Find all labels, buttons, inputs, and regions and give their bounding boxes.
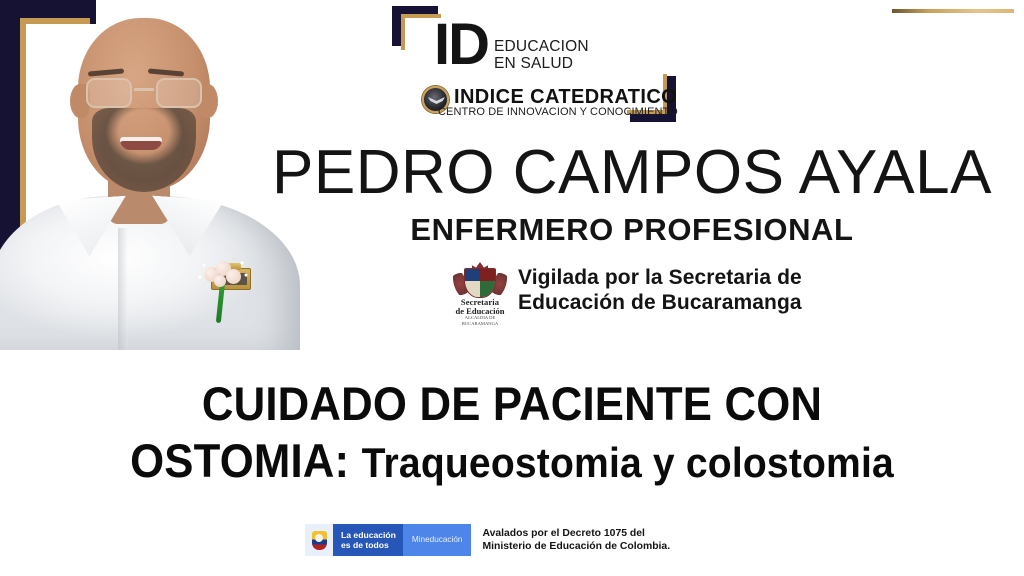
flower-stem xyxy=(216,281,225,323)
logo-mark-id: ID xyxy=(434,20,488,70)
lens-right xyxy=(156,78,202,108)
accreditation-block: Secretaria de Educación ALCALDIA DE BUCA… xyxy=(452,262,802,318)
gov-ministry-label: Mineducación xyxy=(403,524,472,556)
footer-accreditation: La educación es de todos Mineducación Av… xyxy=(305,524,670,556)
logo-subtitle-line2: EN SALUD xyxy=(494,55,573,72)
colombia-coat-of-arms-icon xyxy=(312,531,327,550)
title-line-2-bold: OSTOMIA: xyxy=(130,434,349,487)
title-line-2-rest: Traqueostomia y colostomia xyxy=(362,439,894,486)
flower-petal xyxy=(226,269,241,284)
mineducacion-logo: La educación es de todos Mineducación xyxy=(305,524,471,556)
indice-catedratico-logo: ID EDUCACION EN SALUD INDICE CATEDRATICO… xyxy=(392,6,676,122)
presentation-slide: ID EDUCACION EN SALUD INDICE CATEDRATICO… xyxy=(0,0,1024,576)
institute-tagline: CENTRO DE INNOVACION Y CONOCIMIENTO xyxy=(438,106,678,118)
top-right-gold-line xyxy=(892,9,1014,13)
lens-left xyxy=(86,78,132,108)
gov-slogan-line2: es de todos xyxy=(341,540,396,551)
crest-quarter xyxy=(480,269,495,281)
title-line-1: CUIDADO DE PACIENTE CON xyxy=(36,376,988,432)
shirt-placket xyxy=(118,228,128,350)
crest-label-line3: ALCALDIA DE BUCARAMANGA xyxy=(452,315,508,327)
footer-note-line2: Ministerio de Educación de Colombia. xyxy=(482,541,670,552)
eagle-glyph xyxy=(428,97,445,104)
mouth xyxy=(120,137,162,150)
crest-quarter xyxy=(465,281,480,297)
footer-note: Avalados por el Decreto 1075 del Ministe… xyxy=(482,527,670,554)
gov-slogan-line1: La educación xyxy=(341,530,396,541)
eyeglasses-icon xyxy=(84,78,204,108)
accreditation-line1: Vigilada por la Secretaria de xyxy=(518,266,802,289)
flower-petal xyxy=(214,275,226,287)
footer-note-line1: Avalados por el Decreto 1075 del xyxy=(482,528,644,539)
speaker-role: ENFERMERO PROFESIONAL xyxy=(240,212,1024,248)
bucaramanga-crest-icon: Secretaria de Educación ALCALDIA DE BUCA… xyxy=(452,262,508,318)
logo-subtitle: EDUCACION EN SALUD xyxy=(494,38,589,72)
lapel-flower xyxy=(196,255,250,323)
escudo-container xyxy=(305,524,333,556)
accreditation-text: Vigilada por la Secretaria de Educación … xyxy=(518,265,802,315)
crest-shield xyxy=(464,268,496,298)
logo-primary-row: ID EDUCACION EN SALUD xyxy=(434,20,589,70)
logo-subtitle-line1: EDUCACION xyxy=(494,38,589,55)
title-line-2: OSTOMIA: Traqueostomia y colostomia xyxy=(36,432,988,492)
lens-bridge xyxy=(134,88,154,91)
speaker-name: PEDRO CAMPOS AYALA xyxy=(240,142,1024,204)
slide-title: CUIDADO DE PACIENTE CON OSTOMIA: Traqueo… xyxy=(0,376,1024,492)
accreditation-line2: Educación de Bucaramanga xyxy=(518,291,802,314)
gov-slogan: La educación es de todos xyxy=(333,524,403,556)
crest-quarter xyxy=(480,281,495,297)
crest-quarter xyxy=(465,269,480,281)
